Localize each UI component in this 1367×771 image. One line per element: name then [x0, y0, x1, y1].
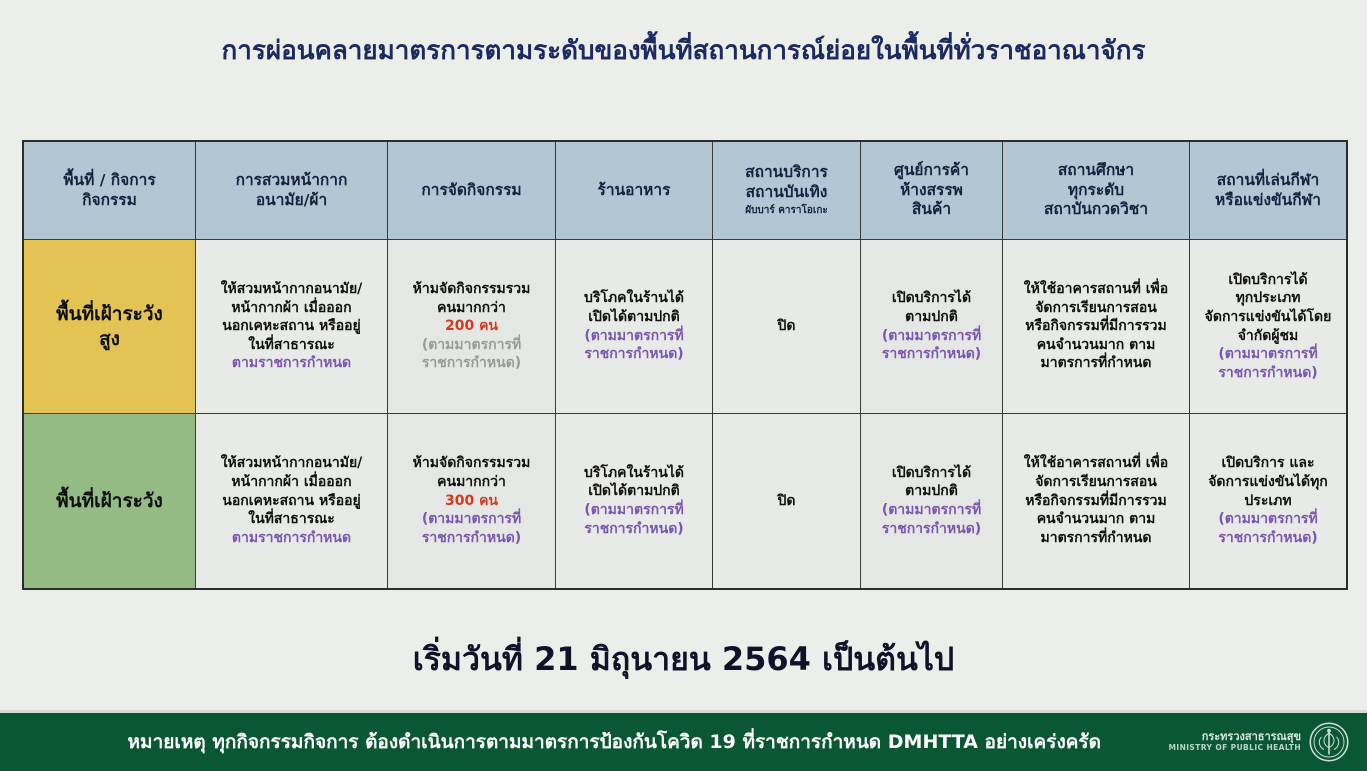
cell-note: ตามราชการกำหนด [202, 354, 381, 373]
cell-line: ห้ามจัดกิจกรรมรวม [394, 280, 549, 299]
cell-note: ราชการกำหนด) [562, 520, 706, 539]
table-header-row: พื้นที่ / กิจการ กิจกรรม การสวมหน้ากาก อ… [24, 142, 1346, 240]
header-line: สถานบริการ [719, 163, 854, 183]
cell-note: ราชการกำหนด) [1196, 364, 1340, 383]
cell-line: ทุกประเภท [1196, 289, 1340, 308]
measures-table-wrapper: พื้นที่ / กิจการ กิจกรรม การสวมหน้ากาก อ… [22, 140, 1344, 590]
cell-line: คนมากกว่า [394, 473, 549, 492]
footer-bar: หมายเหตุ ทุกกิจกรรมกิจการ ต้องดำเนินการต… [0, 710, 1367, 771]
cell-line: คนมากกว่า [394, 299, 549, 318]
cell-line: จัดการแข่งขันได้ทุก [1196, 473, 1340, 492]
cell-line: ตามปกติ [867, 308, 996, 327]
cell-note: ราชการกำหนด) [562, 345, 706, 364]
cell-note: ราชการกำหนด) [867, 520, 996, 539]
cell-activity: ห้ามจัดกิจกรรมรวม คนมากกว่า 200 คน (ตามม… [388, 240, 556, 414]
cell-note: (ตามมาตรการที่ [394, 510, 549, 529]
cell-line: เปิดได้ตามปกติ [562, 308, 706, 327]
header-subline: ผับบาร์ คาราโอเกะ [719, 205, 854, 218]
cell-education: ให้ใช้อาคารสถานที่ เพื่อ จัดการเรียนการส… [1003, 414, 1190, 588]
measures-table: พื้นที่ / กิจการ กิจกรรม การสวมหน้ากาก อ… [22, 140, 1348, 590]
cell-mall: เปิดบริการได้ ตามปกติ (ตามมาตรการที่ ราช… [861, 240, 1003, 414]
header-line: การจัดกิจกรรม [394, 181, 549, 201]
start-date-text: เริ่มวันที่ 21 มิถุนายน 2564 เป็นต้นไป [0, 634, 1367, 685]
cell-sports: เปิดบริการ และ จัดการแข่งขันได้ทุก ประเภ… [1190, 414, 1346, 588]
cell-restaurant: บริโภคในร้านได้ เปิดได้ตามปกติ (ตามมาตรก… [556, 240, 713, 414]
cell-note: ตามราชการกำหนด [202, 529, 381, 548]
header-line: ห้างสรรพ [867, 181, 996, 201]
cell-note: (ตามมาตรการที่ [562, 327, 706, 346]
cell-note: ราชการกำหนด) [1196, 529, 1340, 548]
zone-cell-surveillance: พื้นที่เฝ้าระวัง [24, 414, 196, 588]
header-line: ศูนย์การค้า [867, 161, 996, 181]
cell-line: คนจำนวนมาก ตาม [1009, 510, 1183, 529]
cell-entertainment: ปิด [713, 414, 861, 588]
cell-gathering-limit: 200 คน [394, 317, 549, 336]
cell-note: (ตามมาตรการที่ [562, 501, 706, 520]
cell-line: เปิดบริการได้ [867, 464, 996, 483]
cell-line: หน้ากากผ้า เมื่อออก [202, 299, 381, 318]
cell-line: ห้ามจัดกิจกรรมรวม [394, 454, 549, 473]
cell-line: นอกเคหะสถาน หรืออยู่ [202, 492, 381, 511]
cell-activity: ห้ามจัดกิจกรรมรวม คนมากกว่า 300 คน (ตามม… [388, 414, 556, 588]
column-header-mask: การสวมหน้ากาก อนามัย/ผ้า [196, 142, 388, 240]
cell-mask: ให้สวมหน้ากากอนามัย/ หน้ากากผ้า เมื่อออก… [196, 240, 388, 414]
cell-line: ให้สวมหน้ากากอนามัย/ [202, 454, 381, 473]
table-row: พื้นที่เฝ้าระวัง ให้สวมหน้ากากอนามัย/ หน… [24, 414, 1346, 588]
ministry-name-english: MINISTRY OF PUBLIC HEALTH [1169, 744, 1301, 753]
column-header-restaurant: ร้านอาหาร [556, 142, 713, 240]
table-row: พื้นที่เฝ้าระวัง สูง ให้สวมหน้ากากอนามัย… [24, 240, 1346, 414]
table-body: พื้นที่เฝ้าระวัง สูง ให้สวมหน้ากากอนามัย… [24, 240, 1346, 588]
header-line: ทุกระดับ [1009, 181, 1183, 201]
cell-line: เปิดได้ตามปกติ [562, 482, 706, 501]
cell-line: ในที่สาธารณะ [202, 336, 381, 355]
header-line: การสวมหน้ากาก [202, 171, 381, 191]
cell-note: ราชการกำหนด) [394, 529, 549, 548]
header-line: สถานศึกษา [1009, 161, 1183, 181]
cell-line: ให้ใช้อาคารสถานที่ เพื่อ [1009, 454, 1183, 473]
column-header-entertainment: สถานบริการ สถานบันเทิง ผับบาร์ คาราโอเกะ [713, 142, 861, 240]
cell-line: ตามปกติ [867, 482, 996, 501]
ministry-name: กระทรวงสาธารณสุข MINISTRY OF PUBLIC HEAL… [1169, 731, 1301, 752]
column-header-activity: การจัดกิจกรรม [388, 142, 556, 240]
cell-note: (ตามมาตรการที่ [1196, 345, 1340, 364]
cell-mask: ให้สวมหน้ากากอนามัย/ หน้ากากผ้า เมื่อออก… [196, 414, 388, 588]
cell-line: จัดการเรียนการสอน [1009, 299, 1183, 318]
cell-line: จัดการแข่งขันได้โดย [1196, 308, 1340, 327]
cell-note: (ตามมาตรการที่ [867, 327, 996, 346]
cell-restaurant: บริโภคในร้านได้ เปิดได้ตามปกติ (ตามมาตรก… [556, 414, 713, 588]
ministry-emblem-icon [1309, 722, 1349, 762]
header-line: สถาบันกวดวิชา [1009, 200, 1183, 220]
cell-note: (ตามมาตรการที่ [394, 336, 549, 355]
column-header-education: สถานศึกษา ทุกระดับ สถาบันกวดวิชา [1003, 142, 1190, 240]
cell-line: ให้สวมหน้ากากอนามัย/ [202, 280, 381, 299]
cell-line: นอกเคหะสถาน หรืออยู่ [202, 317, 381, 336]
cell-mall: เปิดบริการได้ ตามปกติ (ตามมาตรการที่ ราช… [861, 414, 1003, 588]
zone-label-line: พื้นที่เฝ้าระวัง [30, 302, 189, 327]
cell-line: มาตรการที่กำหนด [1009, 529, 1183, 548]
page-title: การผ่อนคลายมาตรการตามระดับของพื้นที่สถาน… [0, 30, 1367, 71]
cell-line: หรือกิจกรรมที่มีการรวม [1009, 317, 1183, 336]
cell-note: (ตามมาตรการที่ [867, 501, 996, 520]
cell-line: เปิดบริการได้ [867, 289, 996, 308]
cell-line: เปิดบริการได้ [1196, 271, 1340, 290]
cell-line: ให้ใช้อาคารสถานที่ เพื่อ [1009, 280, 1183, 299]
header-line: พื้นที่ / กิจการ [30, 171, 189, 191]
cell-line: หน้ากากผ้า เมื่อออก [202, 473, 381, 492]
cell-note: (ตามมาตรการที่ [1196, 510, 1340, 529]
cell-line: มาตรการที่กำหนด [1009, 354, 1183, 373]
zone-label-line: สูง [30, 327, 189, 352]
cell-note: ราชการกำหนด) [394, 354, 549, 373]
cell-line: เปิดบริการ และ [1196, 454, 1340, 473]
header-line: หรือแข่งขันกีฬา [1196, 191, 1340, 211]
cell-line: จัดการเรียนการสอน [1009, 473, 1183, 492]
header-line: สินค้า [867, 200, 996, 220]
cell-line: บริโภคในร้านได้ [562, 464, 706, 483]
cell-sports: เปิดบริการได้ ทุกประเภท จัดการแข่งขันได้… [1190, 240, 1346, 414]
footer-note: หมายเหตุ ทุกกิจกรรมกิจการ ต้องดำเนินการต… [0, 727, 1169, 757]
zone-label-line: พื้นที่เฝ้าระวัง [30, 489, 189, 514]
table-header: พื้นที่ / กิจการ กิจกรรม การสวมหน้ากาก อ… [24, 142, 1346, 240]
cell-line: ปิด [719, 317, 854, 336]
column-header-sports: สถานที่เล่นกีฬา หรือแข่งขันกีฬา [1190, 142, 1346, 240]
cell-line: หรือกิจกรรมที่มีการรวม [1009, 492, 1183, 511]
header-line: ร้านอาหาร [562, 181, 706, 201]
cell-entertainment: ปิด [713, 240, 861, 414]
cell-line: ในที่สาธารณะ [202, 510, 381, 529]
cell-line: จำกัดผู้ชม [1196, 327, 1340, 346]
cell-gathering-limit: 300 คน [394, 492, 549, 511]
cell-note: ราชการกำหนด) [867, 345, 996, 364]
cell-education: ให้ใช้อาคารสถานที่ เพื่อ จัดการเรียนการส… [1003, 240, 1190, 414]
ministry-logo-block: กระทรวงสาธารณสุข MINISTRY OF PUBLIC HEAL… [1169, 722, 1367, 762]
header-line: สถานที่เล่นกีฬา [1196, 171, 1340, 191]
cell-line: ปิด [719, 492, 854, 511]
cell-line: คนจำนวนมาก ตาม [1009, 336, 1183, 355]
column-header-mall: ศูนย์การค้า ห้างสรรพ สินค้า [861, 142, 1003, 240]
header-line: อนามัย/ผ้า [202, 191, 381, 211]
cell-line: บริโภคในร้านได้ [562, 289, 706, 308]
cell-line: ประเภท [1196, 492, 1340, 511]
column-header-zone: พื้นที่ / กิจการ กิจกรรม [24, 142, 196, 240]
zone-cell-high-surveillance: พื้นที่เฝ้าระวัง สูง [24, 240, 196, 414]
header-line: กิจกรรม [30, 191, 189, 211]
header-line: สถานบันเทิง [719, 183, 854, 203]
